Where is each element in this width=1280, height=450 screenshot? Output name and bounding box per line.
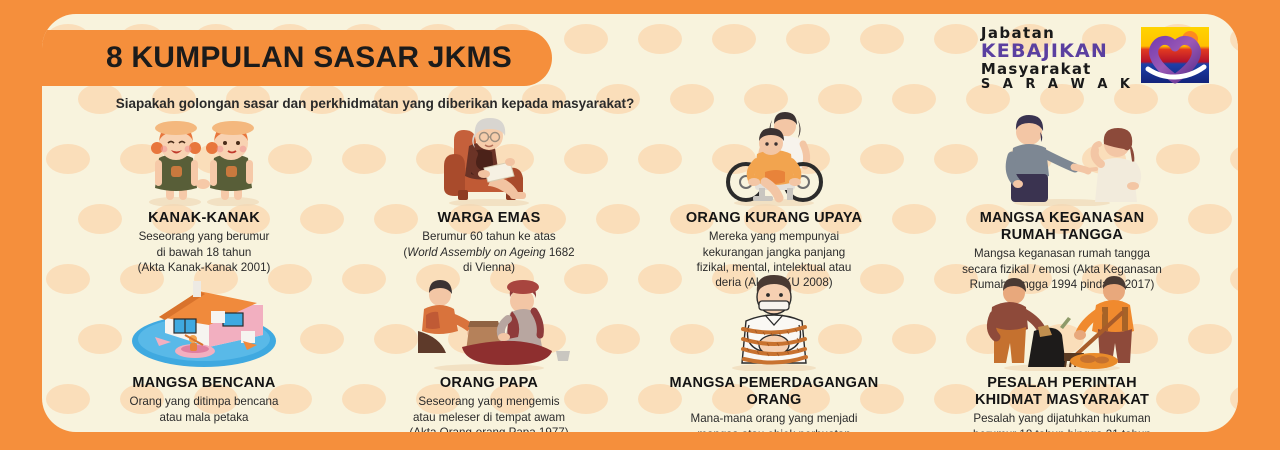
group-card-kanak-kanak[interactable]: KANAK-KANAK Seseorang yang berumur di ba… bbox=[64, 110, 344, 275]
group-title: PESALAH PERINTAHKHIDMAT MASYARAKAT bbox=[922, 375, 1202, 409]
group-card-mangsa-pemerdagangan-orang[interactable]: MANGSA PEMERDAGANGANORANG Mana-mana oran… bbox=[634, 275, 914, 432]
group-card-mangsa-bencana[interactable]: MANGSA BENCANA Orang yang ditimpa bencan… bbox=[64, 275, 344, 425]
poster-sheet: 8 KUMPULAN SASAR JKMS Siapakah golongan … bbox=[42, 14, 1238, 432]
background-dot bbox=[786, 24, 830, 54]
group-title: KANAK-KANAK bbox=[64, 210, 344, 227]
logo-line-kebajikan: KEBAJIKAN bbox=[981, 42, 1134, 61]
group-card-mangsa-keganasan-rumah-tangga[interactable]: MANGSA KEGANASANRUMAH TANGGA Mangsa kega… bbox=[922, 110, 1202, 292]
page-title: 8 KUMPULAN SASAR JKMS bbox=[106, 41, 512, 75]
group-title: MANGSA PEMERDAGANGANORANG bbox=[634, 375, 914, 409]
two-children-illustration bbox=[64, 110, 344, 206]
group-title: ORANG PAPA bbox=[349, 375, 629, 392]
logo-wordmark: Jabatan KEBAJIKAN Masyarakat S A R A W A… bbox=[981, 22, 1134, 91]
wheelchair-user-with-carer-illustration bbox=[634, 110, 914, 206]
domestic-violence-illustration bbox=[922, 110, 1202, 206]
logo-line-masyarakat: Masyarakat bbox=[981, 62, 1134, 77]
group-card-pesalah-perintah-khidmat-masyarakat[interactable]: PESALAH PERINTAHKHIDMAT MASYARAKAT Pesal… bbox=[922, 275, 1202, 432]
infographic-poster: 8 KUMPULAN SASAR JKMS Siapakah golongan … bbox=[0, 0, 1280, 450]
group-title: ORANG KURANG UPAYA bbox=[634, 210, 914, 227]
background-dot bbox=[712, 24, 756, 54]
background-dot bbox=[564, 24, 608, 54]
group-desc: Berumur 60 tahun ke atas (World Assembly… bbox=[349, 229, 629, 275]
giving-aid-to-homeless-illustration bbox=[349, 275, 629, 371]
heart-emblem-icon bbox=[1138, 22, 1212, 88]
group-card-orang-kurang-upaya[interactable]: ORANG KURANG UPAYA Mereka yang mempunyai… bbox=[634, 110, 914, 291]
background-dot bbox=[1230, 24, 1238, 54]
jkms-logo: Jabatan KEBAJIKAN Masyarakat S A R A W A… bbox=[981, 22, 1212, 91]
group-title: WARGA EMAS bbox=[349, 210, 629, 227]
background-dot bbox=[638, 24, 682, 54]
bound-man-trafficking-illustration bbox=[634, 275, 914, 371]
group-desc: Orang yang ditimpa bencana atau mala pet… bbox=[64, 394, 344, 425]
group-desc: Seseorang yang mengemis atau meleser di … bbox=[349, 394, 629, 432]
background-dot bbox=[934, 24, 978, 54]
logo-line-jabatan: Jabatan bbox=[981, 26, 1134, 41]
background-dot bbox=[860, 24, 904, 54]
group-title: MANGSA BENCANA bbox=[64, 375, 344, 392]
group-desc: Pesalah yang dijatuhkan hukuman berumur … bbox=[922, 411, 1202, 432]
group-desc: Seseorang yang berumur di bawah 18 tahun… bbox=[64, 229, 344, 275]
target-groups-grid: KANAK-KANAK Seseorang yang berumur di ba… bbox=[42, 110, 1238, 432]
community-service-cleaning-illustration bbox=[922, 275, 1202, 371]
title-banner: 8 KUMPULAN SASAR JKMS bbox=[42, 30, 552, 86]
logo-line-sarawak: S A R A W A K bbox=[981, 78, 1134, 91]
group-title: MANGSA KEGANASANRUMAH TANGGA bbox=[922, 210, 1202, 244]
flooded-house-illustration bbox=[64, 275, 344, 371]
group-desc: Mana-mana orang yang menjadi mangsa atau… bbox=[634, 411, 914, 432]
group-card-warga-emas[interactable]: WARGA EMAS Berumur 60 tahun ke atas (Wor… bbox=[349, 110, 629, 275]
group-card-orang-papa[interactable]: ORANG PAPA Seseorang yang mengemis atau … bbox=[349, 275, 629, 432]
elderly-woman-in-armchair-illustration bbox=[349, 110, 629, 206]
subtitle-question: Siapakah golongan sasar dan perkhidmatan… bbox=[80, 94, 670, 114]
